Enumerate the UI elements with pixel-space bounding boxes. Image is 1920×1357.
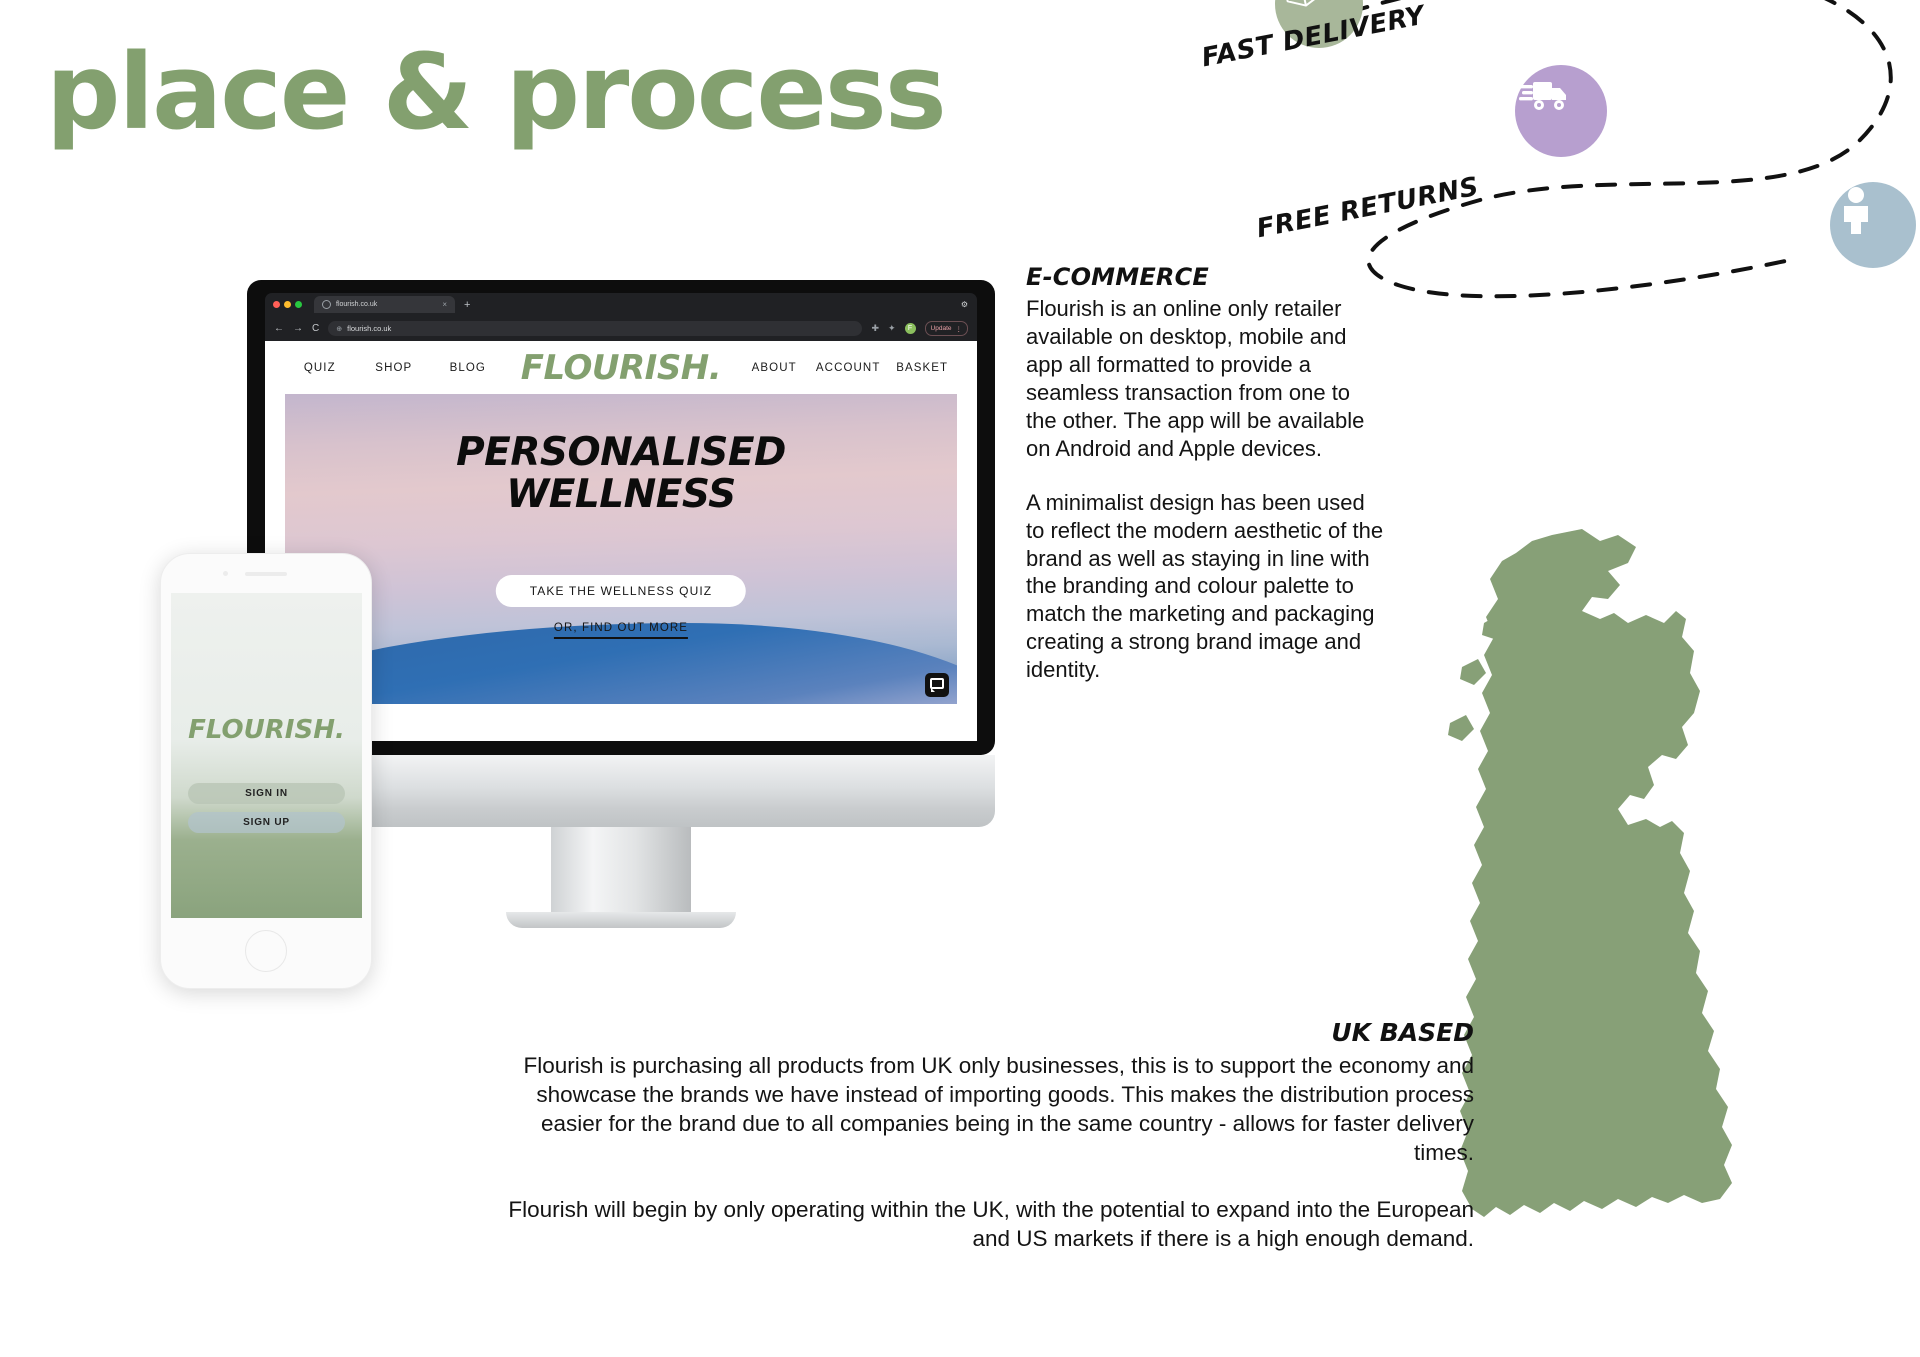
close-traffic-light[interactable] (273, 301, 280, 308)
sign-up-button[interactable]: SIGN UP (188, 812, 345, 833)
imac-stand-foot (506, 912, 736, 928)
url-text: flourish.co.uk (347, 324, 391, 333)
pin-extension-icon[interactable]: ✦ (888, 323, 896, 334)
take-quiz-button[interactable]: TAKE THE WELLNESS QUIZ (496, 575, 746, 607)
reload-icon[interactable]: C (312, 323, 319, 334)
maximize-traffic-light[interactable] (295, 301, 302, 308)
tab-title: flourish.co.uk (336, 301, 377, 308)
uk-based-heading: UK BASED (490, 1018, 1474, 1047)
minimize-traffic-light[interactable] (284, 301, 291, 308)
phone-screen: FLOURISH. SIGN IN SIGN UP (171, 593, 362, 918)
ecommerce-section: E-COMMERCE Flourish is an online only re… (1026, 263, 1386, 684)
browser-tab-bar: flourish.co.uk × + ⚙ (265, 293, 977, 316)
address-bar[interactable]: ⊕ flourish.co.uk (328, 321, 862, 336)
find-out-more-link[interactable]: OR, FIND OUT MORE (554, 622, 688, 639)
site-logo[interactable]: FLOURISH. (521, 348, 721, 388)
hero-title-line2: WELLNESS (456, 474, 786, 516)
truck-icon (1515, 65, 1607, 157)
uk-based-section: UK BASED Flourish is purchasing all prod… (490, 1018, 1474, 1253)
hero-title: PERSONALISED WELLNESS (456, 432, 786, 516)
nav-link-quiz[interactable]: QUIZ (283, 362, 357, 374)
person-icon (1830, 182, 1916, 268)
page-title: place & process (46, 40, 945, 144)
update-button[interactable]: Update ⋮ (925, 321, 968, 336)
new-tab-icon[interactable]: + (464, 299, 470, 311)
forward-icon[interactable]: → (293, 323, 303, 334)
window-settings-icon[interactable]: ⚙ (961, 300, 968, 309)
hero-title-line1: PERSONALISED (456, 432, 786, 474)
profile-avatar[interactable]: F (905, 323, 916, 334)
puzzle-extension-icon[interactable]: ✚ (871, 323, 879, 334)
imac-stand-neck (551, 827, 691, 912)
nav-link-blog[interactable]: BLOG (431, 362, 505, 374)
phone-mockup: FLOURISH. SIGN IN SIGN UP (160, 553, 372, 989)
nav-link-basket[interactable]: BASKET (885, 362, 959, 374)
nav-link-about[interactable]: ABOUT (737, 362, 811, 374)
sign-in-button[interactable]: SIGN IN (188, 783, 345, 804)
tab-favicon-icon (322, 300, 331, 309)
phone-speaker (245, 572, 287, 576)
phone-app-logo: FLOURISH. (188, 715, 345, 745)
uk-based-paragraph-2: Flourish will begin by only operating wi… (490, 1195, 1474, 1253)
browser-omnibar-row: ← → C ⊕ flourish.co.uk ✚ ✦ F Update ⋮ (265, 316, 977, 341)
tab-close-icon[interactable]: × (442, 300, 447, 309)
update-menu-icon[interactable]: ⋮ (956, 325, 963, 333)
nav-link-account[interactable]: ACCOUNT (811, 362, 885, 374)
update-label: Update (931, 325, 952, 332)
phone-camera (223, 571, 228, 576)
uk-based-paragraph-1: Flourish is purchasing all products from… (490, 1051, 1474, 1167)
ecommerce-heading: E-COMMERCE (1026, 263, 1386, 291)
phone-home-button[interactable] (245, 930, 287, 972)
browser-tab[interactable]: flourish.co.uk × (314, 296, 455, 313)
back-icon[interactable]: ← (274, 323, 284, 334)
hero-banner: PERSONALISED WELLNESS TAKE THE WELLNESS … (285, 394, 957, 704)
uk-map (1432, 527, 1852, 1287)
site-navigation: QUIZ SHOP BLOG FLOURISH. ABOUT ACCOUNT B… (265, 341, 977, 394)
chat-bubble-icon[interactable] (925, 673, 949, 697)
lock-icon: ⊕ (336, 325, 342, 333)
ecommerce-paragraph-1: Flourish is an online only retailer avai… (1026, 295, 1386, 463)
ecommerce-paragraph-2: A minimalist design has been used to ref… (1026, 489, 1386, 685)
nav-link-shop[interactable]: SHOP (357, 362, 431, 374)
